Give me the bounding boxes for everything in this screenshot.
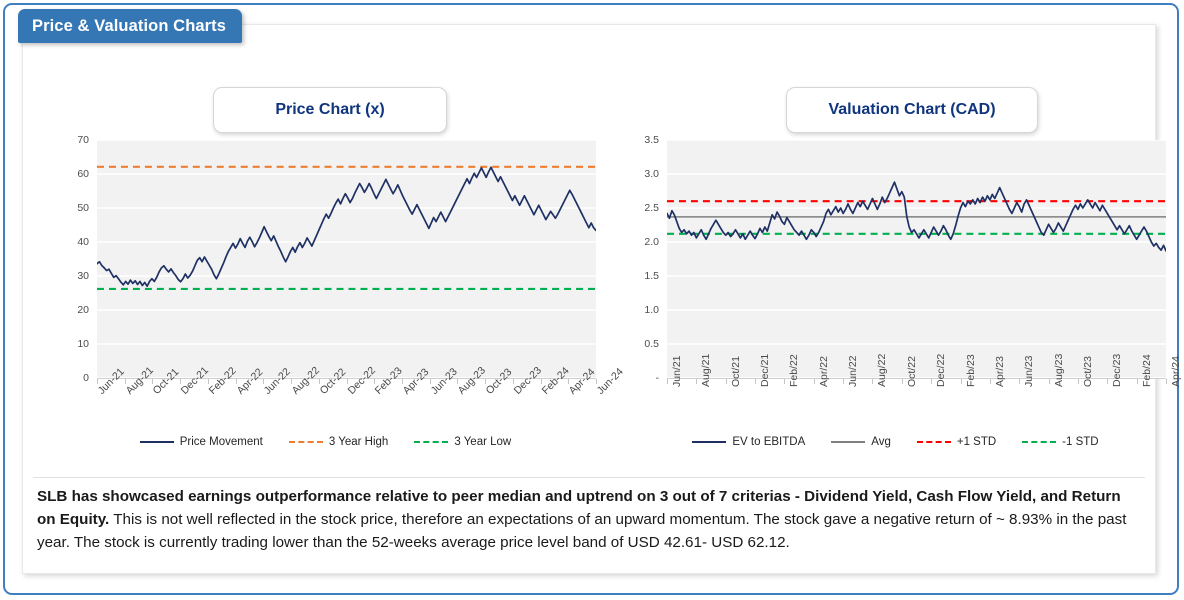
x-tick-mark [291,379,292,384]
x-tick-label: Jun-22 [262,388,270,396]
price-chart-legend: Price Movement3 Year High3 Year Low [53,436,598,448]
valuation-chart-legend-item[interactable]: -1 STD [1022,436,1098,448]
y-tick-label: 0 [83,372,89,384]
legend-label: 3 Year High [329,436,388,448]
y-tick-label: 10 [77,338,89,350]
x-tick-label: Jun/23 [1023,355,1035,387]
price-chart-legend-item[interactable]: 3 Year Low [414,436,511,448]
x-tick-label: Dec-21 [179,388,187,396]
price-chart-canvas [97,140,596,378]
x-tick-mark [457,379,458,384]
legend-label: +1 STD [957,436,996,448]
price-chart: 010203040506070 Jun-21Aug-21Oct-21Dec-21… [53,140,598,465]
x-tick-label: Oct-23 [484,388,492,396]
legend-label: EV to EBITDA [732,436,805,448]
x-tick-mark [485,379,486,384]
legend-label: Price Movement [180,436,263,448]
y-tick-label: 50 [77,202,89,214]
x-tick-mark [541,379,542,384]
x-tick-mark [180,379,181,384]
x-tick-label: Oct/22 [906,356,918,387]
x-tick-mark [1166,379,1167,384]
summary-paragraph: SLB has showcased earnings outperformanc… [37,485,1142,554]
x-tick-mark [347,379,348,384]
y-tick-label: 40 [77,236,89,248]
x-tick-mark [430,379,431,384]
y-tick-label: 0.5 [644,338,659,350]
x-tick-label: Jun-23 [428,388,436,396]
x-tick-mark [961,379,962,384]
y-tick-label: 70 [77,134,89,146]
valuation-chart-svg [667,140,1166,378]
x-tick-mark [872,379,873,384]
x-tick-mark [125,379,126,384]
x-tick-mark [990,379,991,384]
legend-swatch-solid [831,441,865,443]
legend-swatch-dashed [414,441,448,443]
valuation-chart-legend-item[interactable]: EV to EBITDA [692,436,805,448]
x-tick-mark [208,379,209,384]
x-tick-label: Aug/22 [876,354,888,387]
legend-swatch-dashed [1022,441,1056,443]
x-tick-label: Apr-24 [567,388,575,396]
y-tick-label: 3.0 [644,168,659,180]
legend-swatch-dashed [289,441,323,443]
x-tick-label: Jun/21 [671,355,683,387]
x-tick-mark [814,379,815,384]
x-tick-label: Feb/24 [1141,354,1153,387]
x-tick-mark [1019,379,1020,384]
x-tick-label: Apr/24 [1170,356,1182,387]
x-tick-mark [402,379,403,384]
x-tick-label: Feb-24 [539,388,547,396]
section-tab-price-valuation-charts[interactable]: Price & Valuation Charts [18,9,242,43]
price-chart-plot-area: 010203040506070 [53,140,598,380]
valuation-chart-y-axis: -0.51.01.52.02.53.03.5 [623,140,663,378]
x-tick-mark [726,379,727,384]
x-tick-mark [1137,379,1138,384]
price-valuation-charts-page: Price & Valuation Charts Price Chart (x)… [0,0,1184,600]
valuation-chart-legend: EV to EBITDAAvg+1 STD-1 STD [623,436,1168,448]
x-tick-mark [667,379,668,384]
x-tick-label: Oct/21 [730,356,742,387]
summary-rest-text: This is not well reflected in the stock … [37,511,1126,551]
x-tick-mark [236,379,237,384]
price-chart-svg [97,140,596,378]
valuation-chart: -0.51.01.52.02.53.03.5 Jun/21Aug/21Oct/2… [623,140,1168,465]
valuation-chart-title: Valuation Chart (CAD) [786,87,1038,133]
x-tick-label: Aug-23 [456,388,464,396]
x-tick-label: Apr-22 [234,388,242,396]
x-tick-mark [97,379,98,384]
price-chart-legend-item[interactable]: 3 Year High [289,436,388,448]
charts-card: Price Chart (x) 010203040506070 Jun-21Au… [22,24,1156,574]
y-tick-label: - [656,372,660,384]
x-tick-mark [1049,379,1050,384]
legend-swatch-dashed [917,441,951,443]
x-tick-mark [755,379,756,384]
x-tick-label: Oct-22 [317,388,325,396]
x-tick-mark [1078,379,1079,384]
section-divider [33,477,1145,478]
x-tick-mark [596,379,597,384]
x-tick-mark [513,379,514,384]
x-tick-label: Dec/23 [1111,354,1123,387]
y-tick-label: 2.0 [644,236,659,248]
x-tick-label: Jun-21 [96,388,104,396]
x-tick-label: Apr/22 [818,356,830,387]
x-tick-label: Feb-23 [373,388,381,396]
x-tick-label: Aug/21 [700,354,712,387]
x-tick-mark [902,379,903,384]
price-chart-legend-item[interactable]: Price Movement [140,436,263,448]
x-tick-mark [843,379,844,384]
x-tick-label: Dec-23 [511,388,519,396]
legend-label: Avg [871,436,891,448]
x-tick-label: Aug-22 [290,388,298,396]
legend-label: -1 STD [1062,436,1098,448]
valuation-chart-canvas [667,140,1166,378]
valuation-chart-legend-item[interactable]: Avg [831,436,891,448]
x-tick-label: Dec/21 [759,354,771,387]
x-tick-label: Dec/22 [935,354,947,387]
y-tick-label: 2.5 [644,202,659,214]
x-tick-label: Oct-21 [151,388,159,396]
x-tick-mark [931,379,932,384]
x-tick-label: Jun/22 [847,355,859,387]
valuation-chart-legend-item[interactable]: +1 STD [917,436,996,448]
x-tick-label: Apr/23 [994,356,1006,387]
x-tick-label: Aug/23 [1053,354,1065,387]
x-tick-mark [319,379,320,384]
x-tick-label: Aug-21 [123,388,131,396]
x-tick-mark [568,379,569,384]
y-tick-label: 60 [77,168,89,180]
price-chart-title: Price Chart (x) [213,87,447,133]
x-tick-label: Feb/23 [965,354,977,387]
valuation-chart-plot-area: -0.51.01.52.02.53.03.5 [623,140,1168,380]
x-tick-label: Feb-22 [206,388,214,396]
x-tick-mark [152,379,153,384]
price-chart-y-axis: 010203040506070 [53,140,93,378]
y-tick-label: 30 [77,270,89,282]
x-tick-mark [696,379,697,384]
legend-swatch-solid [140,441,174,443]
y-tick-label: 20 [77,304,89,316]
x-tick-mark [1107,379,1108,384]
legend-label: 3 Year Low [454,436,511,448]
x-tick-label: Dec-22 [345,388,353,396]
legend-swatch-solid [692,441,726,443]
x-tick-label: Feb/22 [788,354,800,387]
x-tick-mark [374,379,375,384]
x-tick-label: Oct/23 [1082,356,1094,387]
x-tick-mark [263,379,264,384]
x-tick-mark [784,379,785,384]
x-tick-label: Jun-24 [595,388,603,396]
y-tick-label: 3.5 [644,134,659,146]
y-tick-label: 1.0 [644,304,659,316]
x-tick-label: Apr-23 [401,388,409,396]
y-tick-label: 1.5 [644,270,659,282]
